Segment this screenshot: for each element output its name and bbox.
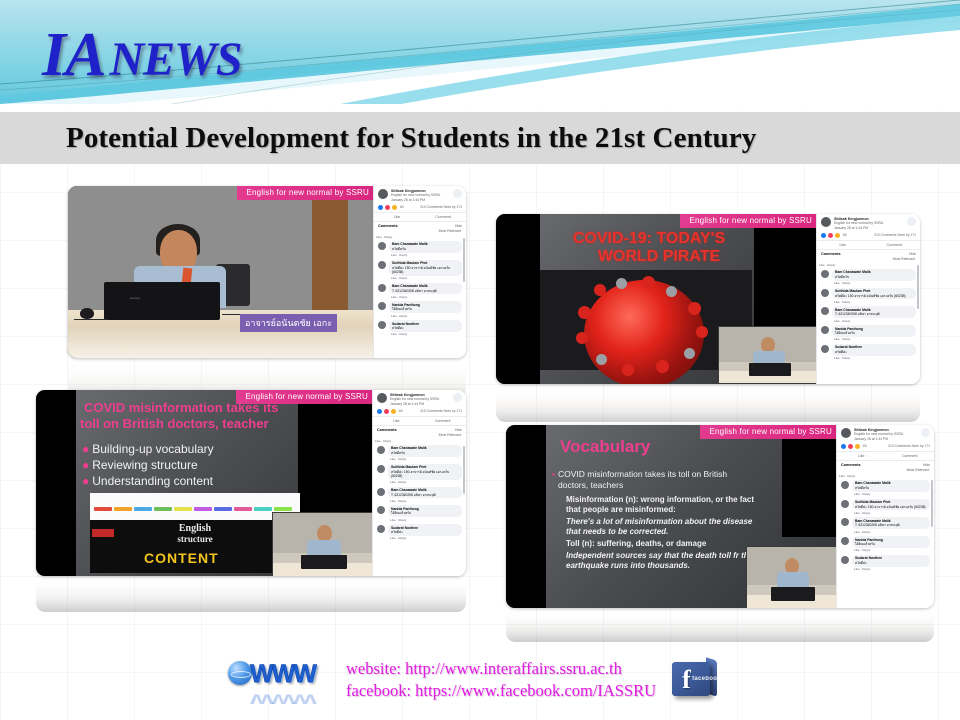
avatar <box>841 556 849 564</box>
avatar <box>821 289 829 297</box>
avatar <box>841 428 851 438</box>
comment-reply-link[interactable]: Like · Reply <box>837 474 934 479</box>
comment-reply-link[interactable]: Like · Reply <box>852 510 930 515</box>
comment-button[interactable]: Comment <box>420 215 466 219</box>
comment-text: T. 6212340208 อลิษา อาสนวุฒิ <box>391 493 459 497</box>
stream-banner: English for new normal by SSRU <box>700 425 837 439</box>
comment-text: T. 6212340208 อลิษา อาสนวุฒิ <box>392 289 459 293</box>
ia-news-logo: IANEWS <box>42 20 242 91</box>
presenter-inset <box>746 546 836 608</box>
comment-button[interactable]: Comment <box>420 419 467 423</box>
screenshot-lecturer[interactable]: Lenovo English for new normal by SSRU อา… <box>68 186 466 358</box>
fb-timestamp: January 28 at 1:44 PM <box>391 198 450 202</box>
comment-text: สวัสดีค่ะ 150 อาจารย์ อนันต์ชัย เอกะครับ… <box>392 266 459 275</box>
comment-reply-link[interactable]: Like · Reply <box>852 567 930 572</box>
avatar <box>821 270 829 278</box>
lecture-room-scene: Lenovo <box>68 186 373 358</box>
comment-item[interactable]: Sutthida Maulam Phet สวัสดีค่ะ 150 อาจาร… <box>374 259 466 282</box>
screenshot-misinformation[interactable]: COVID misinformation takes its toll on B… <box>36 390 466 576</box>
presenter-inset <box>272 512 372 576</box>
slide-title-line2: toll on British doctors, teacher <box>80 416 269 432</box>
facebook-icon-face: f facebook <box>672 662 710 696</box>
fb-timestamp: January 28 at 1:44 PM <box>854 437 918 441</box>
logo-sub-text: NEWS <box>109 33 241 86</box>
fb-reactions-row: 60 210 Comments Seen by 171 <box>373 408 466 416</box>
screenshot-vocabulary[interactable]: Vocabulary ▪COVID misinformation takes i… <box>506 425 934 608</box>
comments-scrollbar[interactable] <box>463 238 465 283</box>
avatar <box>377 488 385 496</box>
avatar <box>821 326 829 334</box>
comment-item[interactable]: Bam Chanawate Malik สวัสดีครับ Like · Re… <box>837 479 934 498</box>
comment-item[interactable]: Bam Chanawate Malik สวัสดีครับ Like · Re… <box>373 444 466 463</box>
www-text: WWW <box>250 660 315 689</box>
comment-item[interactable]: Bam Chanawate Malik สวัสดีครับ Like · Re… <box>374 240 466 259</box>
board-content-word: CONTENT <box>144 550 219 566</box>
vocabulary-title: Vocabulary <box>560 437 650 457</box>
care-reaction-icon <box>391 409 396 414</box>
facebook-rail-2[interactable]: Sittisak Kingjunmon English for new norm… <box>816 214 920 384</box>
comments-scrollbar[interactable] <box>931 480 933 528</box>
love-reaction-icon <box>828 233 833 238</box>
comment-item[interactable]: Sutthida Maulam Phet สวัสดีค่ะ 150 อาจาร… <box>837 498 934 517</box>
comment-button[interactable]: Comment <box>886 454 935 458</box>
reaction-count: 60 <box>400 205 404 209</box>
logo-main-text: IA <box>42 21 105 89</box>
comment-item[interactable]: Sutthida Maulam Phet สวัสดีค่ะ 150 อาจาร… <box>817 287 920 306</box>
avatar <box>377 525 385 533</box>
comment-text: สวัสดีครับ <box>391 451 459 455</box>
comment-reply-link[interactable]: Like · Reply <box>388 536 462 541</box>
comment-reply-link[interactable]: Like · Reply <box>388 517 462 522</box>
thai-caption: อาจารย์อนันตชัย เอกะ <box>240 314 337 332</box>
comment-item[interactable]: Sudarat Nonthee สวัสดีค่ะ Like · Reply <box>374 319 466 338</box>
fb-action-bar: Like Comment <box>373 416 466 426</box>
comment-text: สวัสดีครับ <box>855 486 927 490</box>
avatar <box>821 345 829 353</box>
avatar <box>841 537 849 545</box>
comment-reply-link[interactable]: Like · Reply <box>388 498 462 503</box>
presentation-slide: IANEWS Potential Development for Student… <box>0 0 960 720</box>
board-text-line1: English <box>90 523 300 534</box>
like-button[interactable]: Like <box>817 243 869 247</box>
facebook-rail-1[interactable]: Sittisak Kingjunmon English for new norm… <box>373 186 466 358</box>
vocabulary-lead-line2: doctors, teachers <box>558 480 623 491</box>
fb-view-stats: 210 Comments Seen by 171 <box>420 205 462 209</box>
video-pane-misinformation[interactable]: COVID misinformation takes its toll on B… <box>36 390 372 576</box>
fb-post-header: Sittisak Kingjunmon English for new norm… <box>373 390 466 408</box>
comment-item[interactable]: Sudarat Nonthee สวัสดีค่ะ Like · Reply <box>837 554 934 573</box>
covid-slide-title-line1: COVID-19: TODAY'S <box>544 230 754 248</box>
bullet-dot-icon: ● <box>82 442 89 456</box>
comment-reply-link[interactable]: Like · Reply <box>832 299 916 304</box>
contact-urls: website: http://www.interaffairs.ssru.ac… <box>346 658 656 703</box>
comment-reply-link[interactable]: Like · Reply <box>389 332 462 337</box>
comment-sort-dropdown[interactable]: Most Relevant <box>373 432 466 439</box>
avatar <box>841 500 849 508</box>
comment-reply-link[interactable]: Like · Reply <box>388 457 462 462</box>
comment-item[interactable]: Bam Chanawate Malik T. 6212340208 อลิษา … <box>817 305 920 324</box>
comment-reply-link[interactable]: Like · Reply <box>373 439 466 444</box>
presenter-inset <box>718 326 816 384</box>
comment-item[interactable]: Nanida Panthong ได้ยินแล้วครับ Like · Re… <box>837 535 934 554</box>
comment-text: สวัสดีค่ะ <box>392 326 459 330</box>
comment-reply-link[interactable]: Like · Reply <box>389 313 462 318</box>
screenshot-reflection <box>36 576 466 612</box>
avatar <box>378 302 386 310</box>
like-reaction-icon <box>377 409 382 414</box>
comment-item[interactable]: Bam Chanawate Malik T. 6212340208 อลิษา … <box>374 282 466 301</box>
reaction-count: 60 <box>843 233 847 237</box>
reaction-count: 60 <box>863 444 867 448</box>
comment-reply-link[interactable]: Like · Reply <box>388 480 462 485</box>
fb-post-header: Sittisak Kingjunmon English for new norm… <box>817 214 920 232</box>
screenshot-reflection <box>496 384 920 422</box>
comment-item[interactable]: Sudarat Nonthee สวัสดีค่ะ Like · Reply <box>817 343 920 362</box>
avatar <box>378 242 386 250</box>
www-globe-icon: WWW WWW <box>228 658 332 702</box>
covid-slide-scene: COVID-19: TODAY'S WORLD PIRATE <box>496 214 816 384</box>
slide-bullet-1: ●Building-up vocabulary <box>82 442 214 457</box>
vocabulary-item-1: Misinformation (n): wrong information, o… <box>566 495 766 515</box>
vocabulary-slide-scene: Vocabulary ▪COVID misinformation takes i… <box>506 425 836 608</box>
comment-text: ได้ยินแล้วครับ <box>855 542 927 546</box>
avatar <box>821 217 831 227</box>
comment-text: สวัสดีครับ <box>835 275 913 279</box>
avatar <box>377 465 385 473</box>
comment-reply-link[interactable]: Like · Reply <box>832 337 916 342</box>
english-structure-board: English structure CONTENT <box>90 493 300 573</box>
fb-view-stats: 210 Comments Seen by 171 <box>420 409 462 413</box>
avatar <box>378 284 386 292</box>
fb-reactions-row: 60 210 Comments Seen by 171 <box>374 204 466 212</box>
comment-item[interactable]: Nanida Panthong ได้ยินแล้วครับ Like · Re… <box>373 504 466 523</box>
more-options-icon[interactable] <box>453 189 462 198</box>
comment-text: สวัสดีค่ะ <box>391 530 459 534</box>
fb-reactions-row: 60 210 Comments Seen by 171 <box>837 443 934 451</box>
vocabulary-item-4: Independent sources say that the death t… <box>566 551 762 571</box>
comment-reply-link[interactable]: Like · Reply <box>852 529 930 534</box>
facebook-icon[interactable]: f facebook <box>670 658 720 702</box>
comment-button[interactable]: Comment <box>869 243 921 247</box>
avatar <box>378 321 386 329</box>
stream-banner: English for new normal by SSRU <box>237 186 374 200</box>
fb-timestamp: January 28 at 1:44 PM <box>390 402 450 406</box>
comment-text: สวัสดีครับ <box>392 247 459 251</box>
comment-text: ได้ยินแล้วครับ <box>391 511 459 515</box>
comment-sort-dropdown[interactable]: Most Relevant <box>374 228 466 235</box>
comments-scrollbar[interactable] <box>917 265 919 309</box>
more-options-icon[interactable] <box>453 393 462 402</box>
comments-scrollbar[interactable] <box>463 446 465 494</box>
avatar <box>378 189 388 199</box>
like-button[interactable]: Like <box>373 419 420 423</box>
facebook-f-letter: f <box>682 667 691 693</box>
avatar <box>378 261 386 269</box>
video-pane-lecturer[interactable]: Lenovo English for new normal by SSRU อา… <box>68 186 373 358</box>
vocabulary-lead-line1: ▪COVID misinformation takes its toll on … <box>552 469 767 480</box>
love-reaction-icon <box>385 205 390 210</box>
more-options-icon[interactable] <box>921 428 930 437</box>
board-text-line2: structure <box>90 534 300 544</box>
video-pane-covid[interactable]: COVID-19: TODAY'S WORLD PIRATE <box>496 214 816 384</box>
comment-reply-link[interactable]: Like · Reply <box>832 356 916 361</box>
screenshot-covid-title[interactable]: COVID-19: TODAY'S WORLD PIRATE <box>496 214 920 384</box>
vocabulary-item-3: Toll (n): suffering, deaths, or damage <box>566 539 766 549</box>
fb-timestamp: January 28 at 1:44 PM <box>834 226 904 230</box>
stream-banner: English for new normal by SSRU <box>680 214 817 228</box>
comment-item[interactable]: Sutthida Maulam Phet สวัสดีค่ะ 150 อาจาร… <box>373 463 466 486</box>
www-reflection: WWW <box>250 691 315 707</box>
comment-reply-link[interactable]: Like · Reply <box>374 235 466 240</box>
website-url[interactable]: website: http://www.interaffairs.ssru.ac… <box>346 658 656 680</box>
bullet-dot-icon: ● <box>82 474 89 488</box>
more-options-icon[interactable] <box>907 217 916 226</box>
facebook-rail-3[interactable]: Sittisak Kingjunmon English for new norm… <box>372 390 466 576</box>
like-reaction-icon <box>821 233 826 238</box>
slide-bullet-3: ●Understanding content <box>82 474 213 489</box>
misinformation-slide-scene: COVID misinformation takes its toll on B… <box>36 390 372 576</box>
comment-text: สวัสดีค่ะ 150 อาจารย์ อนันต์ชัย เอกะครับ… <box>835 294 913 298</box>
comment-text: สวัสดีค่ะ <box>835 350 913 354</box>
slide-footer: WWW WWW website: http://www.interaffairs… <box>0 648 960 720</box>
like-button[interactable]: Like <box>374 215 420 219</box>
like-button[interactable]: Like <box>837 454 886 458</box>
comment-reply-link[interactable]: Like · Reply <box>389 294 462 299</box>
comment-item[interactable]: Nanida Panthong ได้ยินแล้วครับ Like · Re… <box>374 300 466 319</box>
comment-sort-dropdown[interactable]: Most Relevant <box>837 467 934 474</box>
avatar <box>821 307 829 315</box>
avatar <box>841 481 849 489</box>
comment-reply-link[interactable]: Like · Reply <box>852 548 930 553</box>
comment-reply-link[interactable]: Like · Reply <box>389 276 462 281</box>
comment-reply-link[interactable]: Like · Reply <box>817 263 920 268</box>
fb-action-bar: Like Comment <box>837 451 934 461</box>
comment-item[interactable]: Bam Chanawate Malik T. 6212340208 อลิษา … <box>837 516 934 535</box>
avatar <box>377 393 387 403</box>
facebook-wordmark: facebook <box>692 676 721 682</box>
screenshot-reflection <box>506 608 934 642</box>
fb-action-bar: Like Comment <box>374 212 466 222</box>
slide-title-bar: Potential Development for Students in th… <box>0 112 960 164</box>
comment-item[interactable]: Nanida Panthong ได้ยินแล้วครับ Like · Re… <box>817 324 920 343</box>
slide-bullet-2: ●Reviewing structure <box>82 458 198 473</box>
care-reaction-icon <box>835 233 840 238</box>
comment-text: สวัสดีค่ะ <box>855 561 927 565</box>
care-reaction-icon <box>392 205 397 210</box>
facebook-rail-4[interactable]: Sittisak Kingjunmon English for new norm… <box>836 425 934 608</box>
comment-item[interactable]: Bam Chanawate Malik สวัสดีครับ Like · Re… <box>817 268 920 287</box>
page-title: Potential Development for Students in th… <box>66 122 756 155</box>
avatar <box>841 518 849 526</box>
comment-sort-dropdown[interactable]: Most Relevant <box>817 256 920 263</box>
comment-text: สวัสดีค่ะ 150 อาจารย์ อนันต์ชัย เอกะครับ… <box>855 505 927 509</box>
avatar <box>377 446 385 454</box>
fb-reactions-row: 60 210 Comments Seen by 171 <box>817 232 920 240</box>
fb-post-header: Sittisak Kingjunmon English for new norm… <box>374 186 466 204</box>
fb-view-stats: 210 Comments Seen by 171 <box>874 233 916 237</box>
love-reaction-icon <box>384 409 389 414</box>
globe-icon <box>228 661 252 685</box>
comment-text: ได้ยินแล้วครับ <box>392 307 459 311</box>
bullet-dot-icon: ▪ <box>552 469 555 479</box>
stream-banner: English for new normal by SSRU <box>236 390 373 404</box>
slide-header-banner: IANEWS <box>0 0 960 110</box>
comment-text: ได้ยินแล้วครับ <box>835 331 913 335</box>
fb-action-bar: Like Comment <box>817 240 920 250</box>
covid-slide-title-line2: WORLD PIRATE <box>554 248 764 266</box>
video-pane-vocabulary[interactable]: Vocabulary ▪COVID misinformation takes i… <box>506 425 836 608</box>
comment-text: T. 6212340208 อลิษา อาสนวุฒิ <box>855 523 927 527</box>
comment-item[interactable]: Sudarat Nonthee สวัสดีค่ะ Like · Reply <box>373 523 466 542</box>
comment-reply-link[interactable]: Like · Reply <box>832 318 916 323</box>
fb-view-stats: 210 Comments Seen by 171 <box>888 444 930 448</box>
comment-reply-link[interactable]: Like · Reply <box>832 281 916 286</box>
care-reaction-icon <box>855 444 860 449</box>
comment-reply-link[interactable]: Like · Reply <box>389 253 462 258</box>
avatar <box>377 506 385 514</box>
vocabulary-item-2: There's a lot of misinformation about th… <box>566 517 766 537</box>
comment-text: T. 6212340208 อลิษา อาสนวุฒิ <box>835 312 913 316</box>
comment-reply-link[interactable]: Like · Reply <box>852 492 930 497</box>
comment-text: สวัสดีค่ะ 150 อาจารย์ อนันต์ชัย เอกะครับ… <box>391 470 459 479</box>
bullet-dot-icon: ● <box>82 458 89 472</box>
love-reaction-icon <box>848 444 853 449</box>
fb-post-header: Sittisak Kingjunmon English for new norm… <box>837 425 934 443</box>
like-reaction-icon <box>841 444 846 449</box>
facebook-url[interactable]: facebook: https://www.facebook.com/IASSR… <box>346 680 656 702</box>
comment-item[interactable]: Bam Chanawate Malik T. 6212340208 อลิษา … <box>373 486 466 505</box>
reaction-count: 60 <box>399 409 403 413</box>
like-reaction-icon <box>378 205 383 210</box>
